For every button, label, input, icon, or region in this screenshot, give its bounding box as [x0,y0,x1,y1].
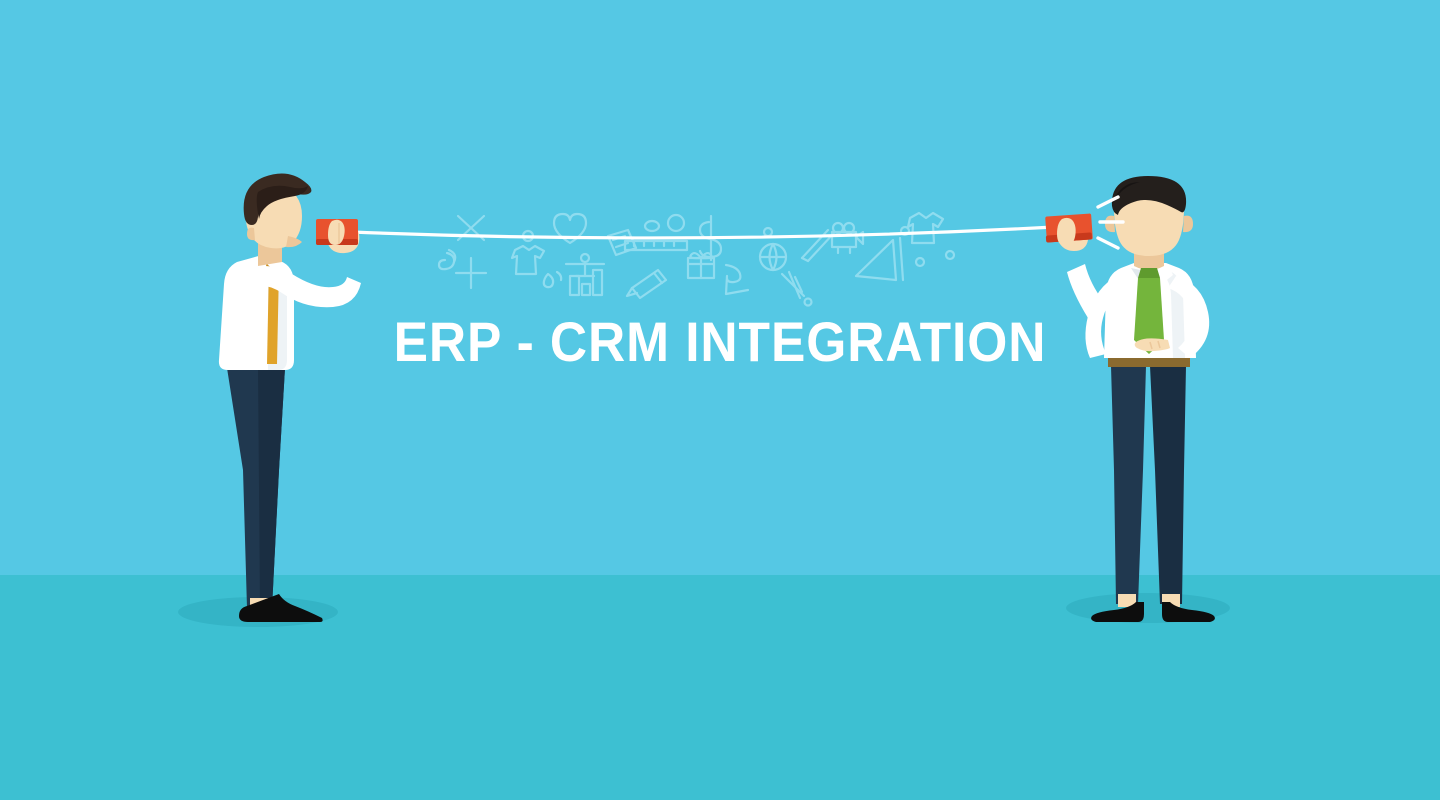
right-figure-tie-knot [1138,268,1160,278]
scene-artwork [0,0,1440,800]
illustration-canvas: ERP - CRM INTEGRATION [0,0,1440,800]
page-title: ERP - CRM INTEGRATION [58,312,1383,372]
right-figure-can-fingers [1057,218,1076,246]
